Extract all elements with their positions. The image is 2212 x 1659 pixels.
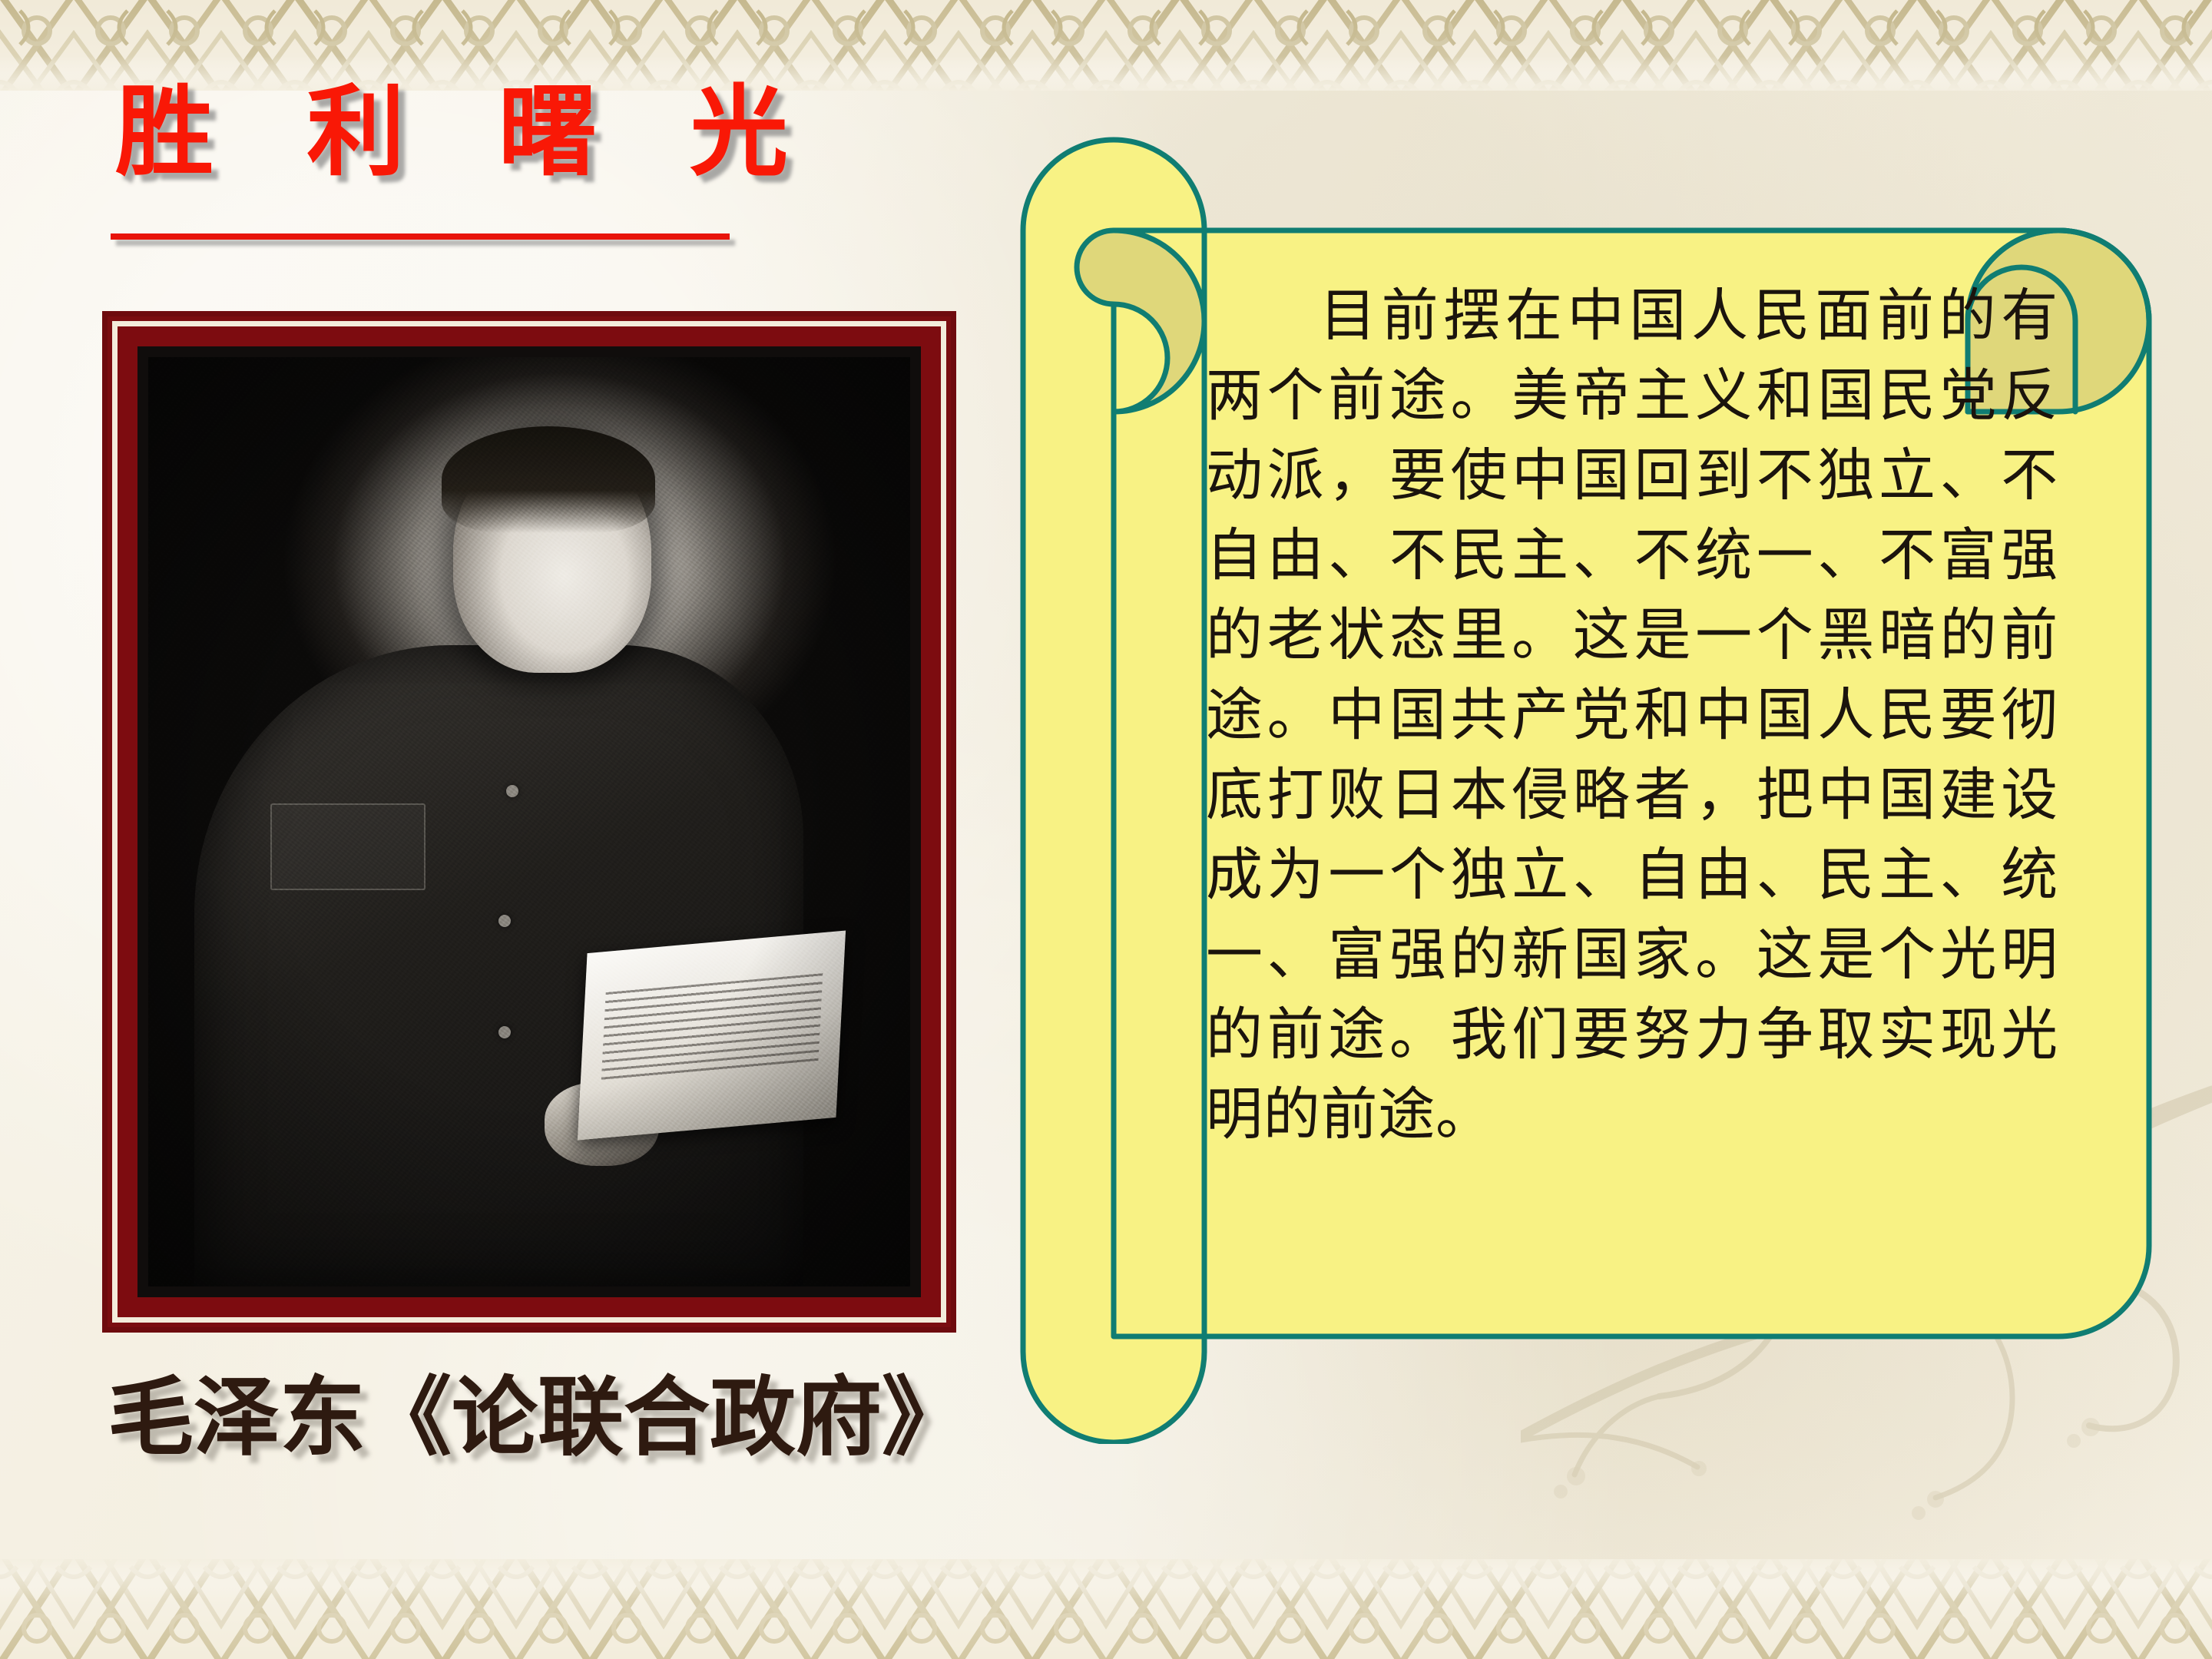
photo-subject-pocket (270, 803, 426, 890)
photo-subject-document (578, 931, 846, 1141)
slide-canvas: 胜 利 曙 光 (0, 0, 2212, 1659)
photo-subject-head (453, 441, 651, 674)
title-underline (111, 233, 730, 240)
photo-subject-button (498, 1026, 511, 1038)
mao-zedong-reading-photo (148, 357, 910, 1286)
photo-frame (102, 311, 956, 1333)
slide-title-block: 胜 利 曙 光 (115, 83, 883, 181)
quotation-body-text: 目前摆在中国人民面前的有两个前途。美帝主义和国民党反动派，要使中国回到不独立、不… (1206, 276, 2058, 1155)
photo-subject-hair (442, 426, 655, 533)
quotation-scroll-panel: 目前摆在中国人民面前的有两个前途。美帝主义和国民党反动派，要使中国回到不独立、不… (1014, 123, 2197, 1444)
photo-inner-mat (137, 346, 921, 1297)
photo-subject-hand (545, 1082, 659, 1166)
photo-vignette (148, 357, 910, 1286)
photo-caption: 毛泽东《论联合政府》 (108, 1375, 998, 1461)
photo-frame-band (118, 326, 941, 1317)
photo-subject-button (506, 785, 518, 797)
bottom-decorative-border (0, 1559, 2212, 1659)
photo-frame-mat (112, 321, 946, 1323)
photo-subject-button (498, 915, 511, 927)
photo-subject-body (194, 645, 804, 1286)
page-title: 胜 利 曙 光 (115, 83, 883, 181)
